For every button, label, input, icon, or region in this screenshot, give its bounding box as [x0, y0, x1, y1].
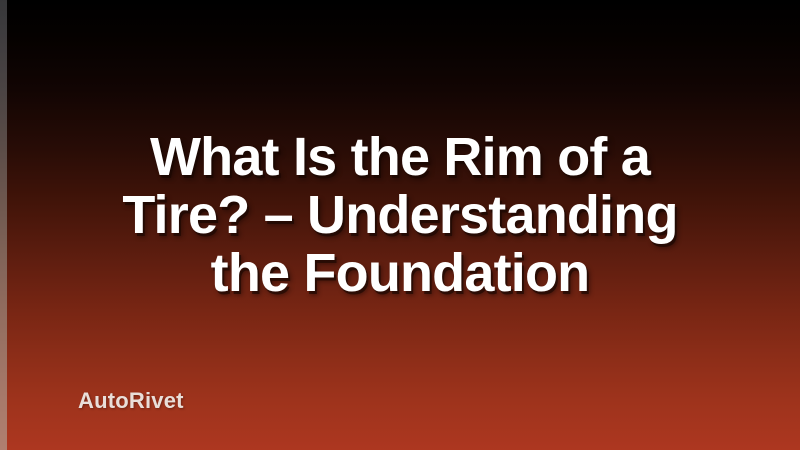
headline-line-3: the Foundation	[24, 244, 776, 302]
title-card: What Is the Rim of a Tire? – Understandi…	[0, 0, 800, 450]
page-title: What Is the Rim of a Tire? – Understandi…	[0, 128, 800, 302]
headline-line-1: What Is the Rim of a	[24, 128, 776, 186]
headline: What Is the Rim of a Tire? – Understandi…	[24, 128, 776, 302]
headline-line-2: Tire? – Understanding	[24, 186, 776, 244]
brand-wordmark: AutoRivet	[78, 388, 184, 414]
